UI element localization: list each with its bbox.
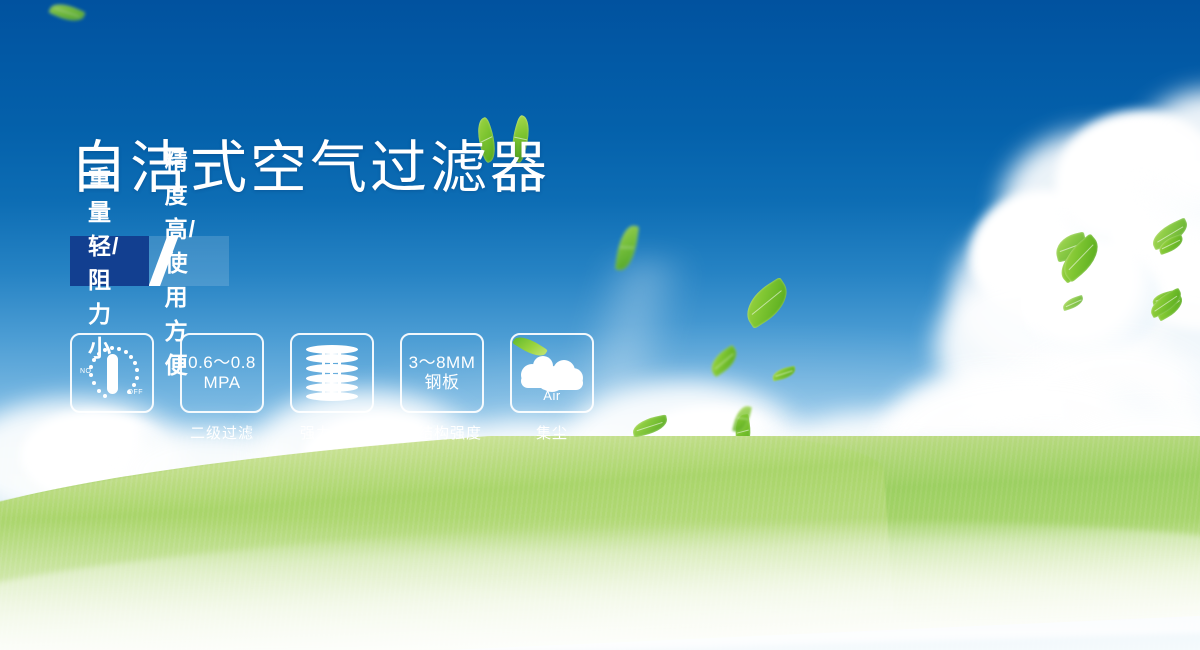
plate-thickness: 3～8MM bbox=[409, 353, 476, 373]
feature-item-two-stage-filter[interactable]: 0.6～0.8 MPA 二级过滤 bbox=[180, 333, 264, 443]
plate-material: 钢板 bbox=[409, 373, 476, 393]
floating-leaf bbox=[706, 345, 743, 378]
cloud-air-icon: Air bbox=[519, 344, 585, 402]
dial-pointer bbox=[107, 354, 118, 394]
filter-stack-icon bbox=[306, 345, 358, 401]
floating-leaf bbox=[615, 224, 639, 272]
grass-haze bbox=[0, 517, 1200, 650]
dial-label-off: OFF bbox=[128, 389, 144, 396]
feature-item-strong-blowback[interactable]: 强力反吹 bbox=[290, 333, 374, 443]
floating-leaf bbox=[771, 366, 797, 382]
subtitle-bar: 重量轻/阻力小 精度高/使用方便 bbox=[70, 236, 229, 286]
subtitle-left: 重量轻/阻力小 bbox=[70, 236, 142, 286]
plate-text-icon: 3～8MM 钢板 bbox=[409, 353, 476, 393]
subtitle-right-wrap: 精度高/使用方便 bbox=[149, 236, 229, 286]
feature-icon-box: 0.6～0.8 MPA bbox=[180, 333, 264, 413]
feature-icon-box: NO OFF bbox=[70, 333, 154, 413]
pressure-range: 0.6～0.8 bbox=[188, 353, 256, 373]
air-label: Air bbox=[519, 388, 585, 403]
floating-leaf-over-label bbox=[631, 414, 670, 437]
dial-icon: NO OFF bbox=[81, 342, 143, 404]
grass-field bbox=[0, 436, 1200, 650]
pressure-text-icon: 0.6～0.8 MPA bbox=[188, 353, 256, 393]
feature-item-steel-strength[interactable]: 3～8MM 钢板 钢结构强度 bbox=[400, 333, 484, 443]
floating-leaf bbox=[1061, 295, 1085, 311]
feature-icon-box bbox=[290, 333, 374, 413]
feature-label-dust-collection: 集尘 bbox=[510, 422, 594, 443]
feature-item-dust-collection[interactable]: Air 集尘 bbox=[510, 333, 594, 443]
feature-item-controller[interactable]: NO OFF 控制仪 bbox=[70, 333, 154, 443]
floating-leaf bbox=[738, 277, 796, 329]
product-banner: 自洁式空气过滤器 重量轻/阻力小 精度高/使用方便 bbox=[0, 0, 1200, 650]
feature-list: NO OFF 控制仪 0.6～0.8 MPA 二级过滤 bbox=[70, 333, 594, 443]
feature-icon-box: 3～8MM 钢板 bbox=[400, 333, 484, 413]
feature-label-controller: 控制仪 bbox=[70, 422, 154, 443]
page-title: 自洁式空气过滤器 bbox=[70, 140, 550, 197]
floating-leaf bbox=[48, 0, 85, 26]
feature-label-steel-strength: 钢结构强度 bbox=[400, 422, 484, 443]
dial-label-no: NO bbox=[80, 368, 92, 375]
feature-icon-box: Air bbox=[510, 333, 594, 413]
feature-label-strong-blowback: 强力反吹 bbox=[290, 422, 374, 443]
feature-label-two-stage-filter: 二级过滤 bbox=[180, 422, 264, 443]
pressure-unit: MPA bbox=[188, 373, 256, 393]
